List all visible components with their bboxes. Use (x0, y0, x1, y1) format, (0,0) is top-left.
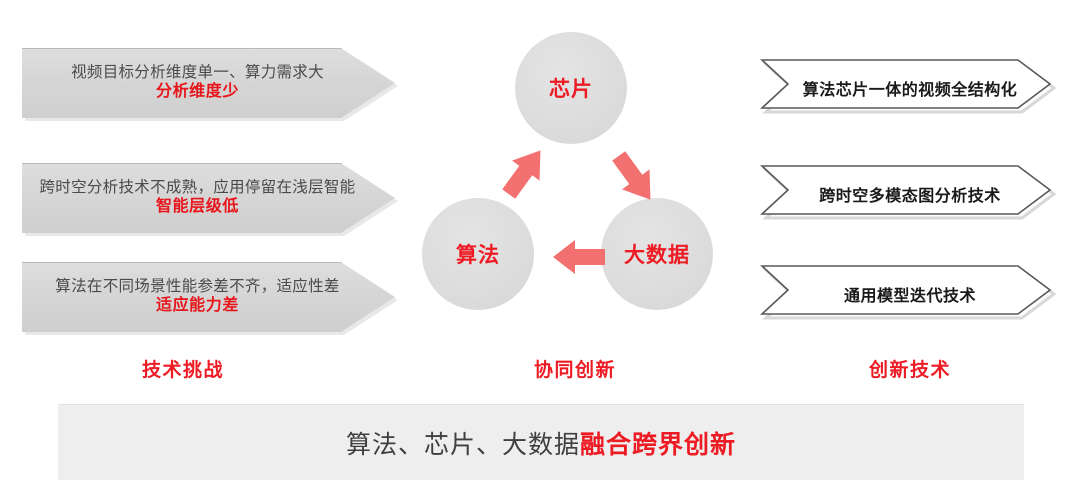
arrow-bigdata-to-algorithm (550, 236, 608, 278)
node-bigdata[interactable]: 大数据 (601, 198, 713, 310)
node-chip[interactable]: 芯片 (515, 32, 627, 144)
challenge-summary-2: 智能层级低 (156, 197, 239, 218)
caption-technical-challenges: 技术挑战 (88, 355, 278, 382)
banner-text-primary: 算法、芯片、大数据 (346, 425, 580, 461)
banner-text-highlight: 融合跨界创新 (580, 425, 736, 461)
challenge-summary-1: 分析维度少 (156, 82, 239, 103)
challenge-arrow-3[interactable]: 算法在不同场景性能参差不齐，适应性差 适应能力差 (22, 262, 395, 332)
innovation-label-2: 跨时空多模态图分析技术 (819, 182, 1001, 206)
challenge-detail-2: 跨时空分析技术不成熟，应用停留在浅层智能 (39, 178, 355, 197)
caption-collaborative-innovation: 协同创新 (490, 355, 660, 382)
innovation-arrow-1[interactable]: 算法芯片一体的视频全结构化 (760, 57, 1060, 119)
slide-canvas: 视频目标分析维度单一、算力需求大 分析维度少 跨时空分析技术不成熟，应用停留在浅… (0, 0, 1080, 499)
challenge-arrow-2[interactable]: 跨时空分析技术不成熟，应用停留在浅层智能 智能层级低 (22, 163, 395, 233)
innovation-label-1: 算法芯片一体的视频全结构化 (803, 76, 1018, 100)
innovation-arrow-3[interactable]: 通用模型迭代技术 (760, 263, 1060, 325)
arrow-chip-to-bigdata (604, 145, 664, 209)
arrow-algorithm-to-chip (494, 141, 554, 205)
node-bigdata-label: 大数据 (624, 239, 690, 269)
challenge-arrow-1[interactable]: 视频目标分析维度单一、算力需求大 分析维度少 (22, 48, 395, 118)
bottom-banner: 算法、芯片、大数据 融合跨界创新 (58, 404, 1024, 480)
node-algorithm[interactable]: 算法 (422, 198, 534, 310)
innovation-arrow-2[interactable]: 跨时空多模态图分析技术 (760, 163, 1060, 225)
node-algorithm-label: 算法 (456, 239, 500, 269)
challenge-detail-1: 视频目标分析维度单一、算力需求大 (71, 63, 324, 82)
challenge-summary-3: 适应能力差 (156, 296, 239, 317)
challenge-detail-3: 算法在不同场景性能参差不齐，适应性差 (55, 277, 339, 296)
innovation-label-3: 通用模型迭代技术 (844, 282, 976, 306)
caption-innovative-technology: 创新技术 (820, 355, 1000, 382)
node-chip-label: 芯片 (549, 73, 593, 103)
